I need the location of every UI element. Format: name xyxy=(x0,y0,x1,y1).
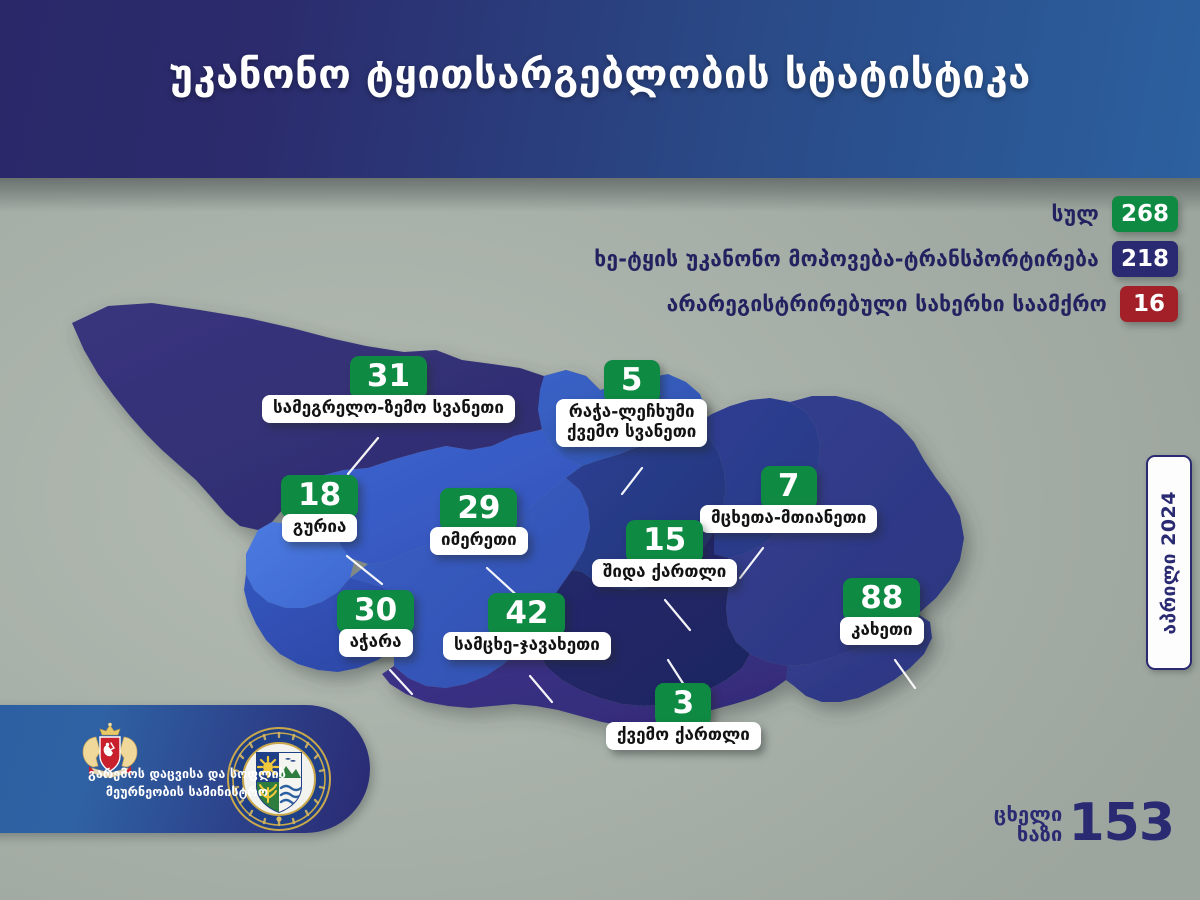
period-tab[interactable]: აპრილი 2024 xyxy=(1146,455,1192,670)
hotline-label: ცხელი ხაზი xyxy=(994,804,1063,845)
callout-value: 15 xyxy=(626,520,703,563)
callout-value: 18 xyxy=(281,475,358,518)
map-callout-guria[interactable]: 18 გურია xyxy=(281,475,358,542)
callout-label: სამცხე-ჯავახეთი xyxy=(443,632,611,660)
map-callout-imereti[interactable]: 29 იმერეთი xyxy=(430,488,528,555)
callout-label: იმერეთი xyxy=(430,527,528,555)
page-title: უკანონო ტყითსარგებლობის სტატისტიკა xyxy=(0,52,1200,98)
map-callout-samegrelo-zemo-svaneti[interactable]: 31 სამეგრელო-ზემო სვანეთი xyxy=(262,356,515,423)
map-callout-samtskhe-javakheti[interactable]: 42 სამცხე-ჯავახეთი xyxy=(443,593,611,660)
legend-row-unregistered-sawmill: არარეგისტრირებული სახერხი საამქრო 16 xyxy=(418,286,1178,322)
map-callout-kvemo-kartli[interactable]: 3 ქვემო ქართლი xyxy=(606,683,761,750)
legend-value-badge: 218 xyxy=(1112,241,1178,277)
header-banner: უკანონო ტყითსარგებლობის სტატისტიკა xyxy=(0,0,1200,178)
callout-value: 3 xyxy=(655,683,711,726)
callout-value: 29 xyxy=(440,488,517,531)
hotline: ცხელი ხაზი 153 xyxy=(994,800,1174,848)
period-label: აპრილი 2024 xyxy=(1158,491,1180,635)
legend-label: ხე-ტყის უკანონო მოპოვება-ტრანსპორტირება xyxy=(594,247,1099,271)
legend-value-badge: 268 xyxy=(1112,196,1178,232)
callout-label: კახეთი xyxy=(840,617,924,645)
callout-label: ქვემო ქართლი xyxy=(606,722,761,750)
callout-value: 88 xyxy=(843,578,920,621)
ministry-name: გარემოს დაცვისა და სოფლის მეურნეობის სამ… xyxy=(72,765,302,801)
legend-value-badge: 16 xyxy=(1120,286,1178,322)
callout-label: შიდა ქართლი xyxy=(592,559,737,587)
hotline-number: 153 xyxy=(1068,800,1174,848)
callout-label: რაჭა-ლეჩხუმი ქვემო სვანეთი xyxy=(556,399,707,447)
legend-label: სულ xyxy=(1051,202,1099,226)
map-callout-racha-lechkhumi[interactable]: 5 რაჭა-ლეჩხუმი ქვემო სვანეთი xyxy=(556,360,707,447)
callout-value: 31 xyxy=(350,356,427,399)
legend-row-illegal-logging: ხე-ტყის უკანონო მოპოვება-ტრანსპორტირება … xyxy=(418,241,1178,277)
callout-value: 42 xyxy=(488,593,565,636)
legend-label: არარეგისტრირებული სახერხი საამქრო xyxy=(667,292,1107,316)
callout-value: 30 xyxy=(337,590,414,633)
legend: სულ 268 ხე-ტყის უკანონო მოპოვება-ტრანსპო… xyxy=(418,196,1178,322)
map-callout-shida-kartli[interactable]: 15 შიდა ქართლი xyxy=(592,520,737,587)
callout-label: აჭარა xyxy=(339,629,413,657)
callout-value: 5 xyxy=(604,360,660,403)
map-callout-kakheti[interactable]: 88 კახეთი xyxy=(840,578,924,645)
map-callout-ajara[interactable]: 30 აჭარა xyxy=(337,590,414,657)
callout-label: სამეგრელო-ზემო სვანეთი xyxy=(262,395,515,423)
callout-value: 7 xyxy=(761,466,817,509)
callout-label: გურია xyxy=(282,514,358,542)
legend-row-total: სულ 268 xyxy=(418,196,1178,232)
